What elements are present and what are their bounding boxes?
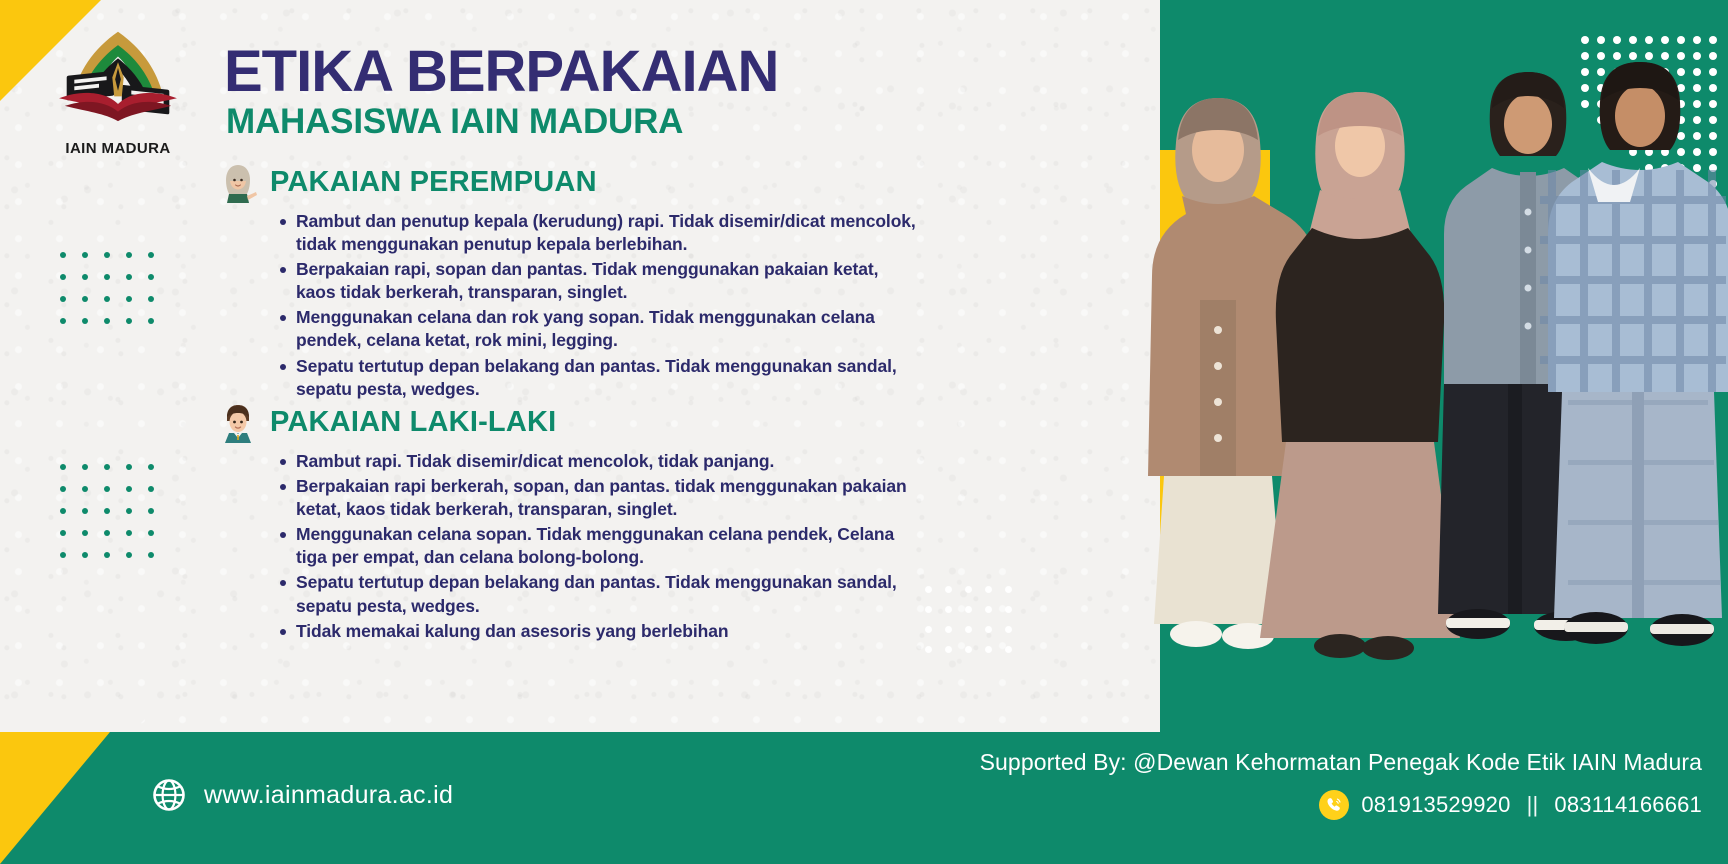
section-pakaian-laki-laki: PAKAIAN LAKI-LAKI Rambut rapi. Tidak dis…: [218, 400, 918, 645]
footer-phone-group: 081913529920 || 083114166661: [1319, 790, 1702, 820]
photo-student-woman-2: [1260, 92, 1460, 660]
section-pakaian-perempuan: PAKAIAN PEREMPUAN Rambut dan penutup kep…: [218, 160, 918, 403]
page-subtitle: MAHASISWA IAIN MADURA: [226, 104, 683, 139]
poster-root: IAIN MADURA ETIKA BERPAKAIAN MAHASISWA I…: [0, 0, 1728, 864]
list-item: Berpakaian rapi, sopan dan pantas. Tidak…: [280, 258, 918, 304]
section-header: PAKAIAN PEREMPUAN: [218, 160, 918, 204]
list-item: Tidak memakai kalung dan asesoris yang b…: [280, 620, 918, 643]
logo-mark-icon: [48, 28, 188, 123]
rules-list: Rambut dan penutup kepala (kerudung) rap…: [218, 210, 918, 401]
section-title: PAKAIAN PEREMPUAN: [270, 166, 597, 199]
student-photos-group: [968, 0, 1728, 760]
phone-separator: ||: [1523, 792, 1543, 818]
photo-student-man-2: [1540, 62, 1728, 646]
list-item: Menggunakan celana dan rok yang sopan. T…: [280, 306, 918, 352]
section-title: PAKAIAN LAKI-LAKI: [270, 406, 556, 439]
page-title: ETIKA BERPAKAIAN: [224, 44, 778, 101]
list-item: Rambut dan penutup kepala (kerudung) rap…: [280, 210, 918, 256]
phone-number-1: 081913529920: [1361, 792, 1510, 818]
footer-website-group[interactable]: www.iainmadura.ac.id: [152, 778, 453, 812]
list-item: Sepatu tertutup depan belakang dan panta…: [280, 571, 918, 617]
iain-madura-logo: IAIN MADURA: [48, 28, 188, 163]
phone-number-2: 083114166661: [1554, 792, 1702, 818]
list-item: Berpakaian rapi berkerah, sopan, dan pan…: [280, 475, 918, 521]
list-item: Rambut rapi. Tidak disemir/dicat mencolo…: [280, 450, 918, 473]
list-item: Menggunakan celana sopan. Tidak mengguna…: [280, 523, 918, 569]
section-header: PAKAIAN LAKI-LAKI: [218, 400, 918, 444]
logo-wordmark: IAIN MADURA: [48, 140, 188, 157]
phone-icon: [1319, 790, 1349, 820]
woman-hijab-icon: [218, 161, 258, 203]
website-url[interactable]: www.iainmadura.ac.id: [204, 781, 453, 810]
man-icon: [218, 401, 258, 443]
list-item: Sepatu tertutup depan belakang dan panta…: [280, 355, 918, 401]
globe-icon: [152, 778, 186, 812]
supported-by-text: Supported By: @Dewan Kehormatan Penegak …: [980, 749, 1702, 776]
rules-list: Rambut rapi. Tidak disemir/dicat mencolo…: [218, 450, 918, 643]
